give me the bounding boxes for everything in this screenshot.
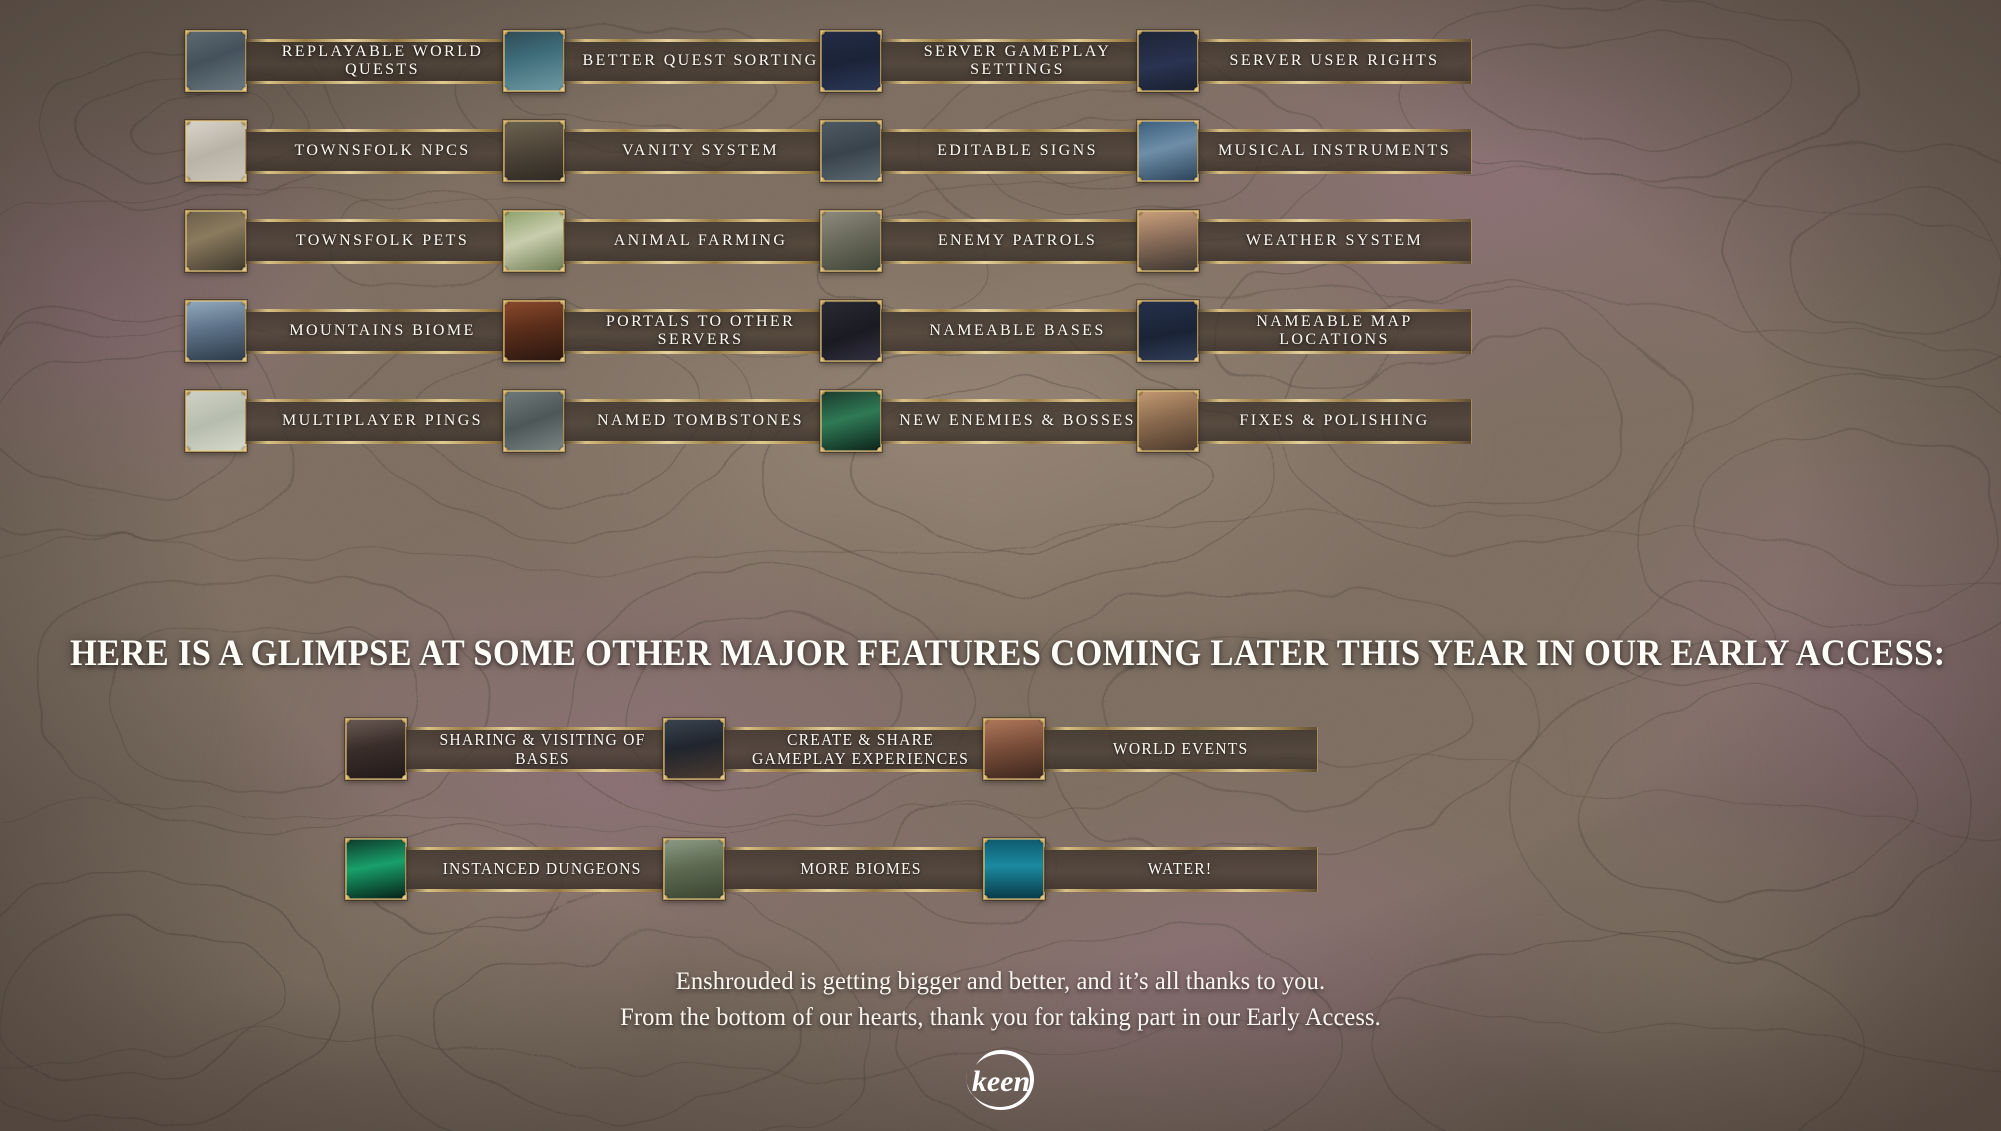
banner-bottom-edge <box>881 81 1154 84</box>
feature-card[interactable]: ANIMAL FARMING <box>503 210 838 272</box>
banner-bottom-edge <box>246 261 519 264</box>
feature-label: ANIMAL FARMING <box>614 232 788 250</box>
feature-label: NAMEABLE MAP LOCATIONS <box>1212 313 1457 349</box>
feature-thumbnail[interactable] <box>503 390 565 452</box>
frame-stud-tr-icon <box>1194 300 1199 305</box>
feature-label: SHARING & VISITING OF BASES <box>430 730 655 768</box>
frame-stud-bl-icon <box>185 447 190 452</box>
forest-valley-art <box>664 839 724 899</box>
banner-top-edge <box>1198 399 1471 402</box>
frame-stud-br-icon <box>242 357 247 362</box>
feature-label: MOUNTAINS BIOME <box>289 322 475 340</box>
frame-stud-br-icon <box>560 87 565 92</box>
frame-stud-br-icon <box>560 447 565 452</box>
ping-marker-wiktor-art <box>186 391 246 451</box>
frame-stud-bl-icon <box>503 87 508 92</box>
banner-bottom-edge <box>1044 889 1317 892</box>
feature-thumbnail[interactable] <box>1137 120 1199 182</box>
feature-banner[interactable]: ENEMY PATROLS <box>880 219 1155 264</box>
feature-thumbnail[interactable] <box>820 300 882 362</box>
frame-stud-tr-icon <box>242 120 247 125</box>
forest-patrol-art <box>821 211 881 271</box>
feature-label: SERVER USER RIGHTS <box>1230 52 1440 70</box>
feature-thumbnail[interactable] <box>1137 30 1199 92</box>
npc-character-sheet-art <box>186 121 246 181</box>
frame-stud-br-icon <box>402 775 407 780</box>
banner-bottom-edge <box>564 171 837 174</box>
feature-label: NAMED TOMBSTONES <box>597 412 804 430</box>
frame-stud-tr-icon <box>1040 838 1045 843</box>
frame-stud-bl-icon <box>820 267 825 272</box>
frame-stud-br-icon <box>877 87 882 92</box>
feature-thumbnail[interactable] <box>820 120 882 182</box>
feature-label: NEW ENEMIES & BOSSES <box>899 412 1136 430</box>
frame-stud-bl-icon <box>1137 267 1142 272</box>
banner-top-edge <box>1198 129 1471 132</box>
frame-stud-tr-icon <box>560 300 565 305</box>
frame-stud-br-icon <box>1194 357 1199 362</box>
frame-stud-tr-icon <box>1194 30 1199 35</box>
feature-label: WEATHER SYSTEM <box>1246 232 1423 250</box>
banner-top-edge <box>564 219 837 222</box>
feature-thumbnail[interactable] <box>345 718 407 780</box>
feature-banner[interactable]: MULTIPLAYER PINGS <box>245 399 520 444</box>
feature-banner[interactable]: MORE BIOMES <box>723 847 998 892</box>
feature-thumbnail[interactable] <box>983 838 1045 900</box>
banner-top-edge <box>881 219 1154 222</box>
frame-stud-bl-icon <box>1137 357 1142 362</box>
feature-label: EDITABLE SIGNS <box>937 142 1098 160</box>
closing-line-1: Enshrouded is getting bigger and better,… <box>40 963 1961 999</box>
logo-text: keen <box>971 1065 1029 1098</box>
later-feature-card[interactable]: INSTANCED DUNGEONS <box>345 838 680 900</box>
feature-label: BETTER QUEST SORTING <box>582 52 818 70</box>
frame-stud-tr-icon <box>242 300 247 305</box>
feature-banner[interactable]: ANIMAL FARMING <box>563 219 838 264</box>
banner-bottom-edge <box>406 889 679 892</box>
frame-stud-br-icon <box>1194 447 1199 452</box>
frame-stud-bl-icon <box>185 357 190 362</box>
frame-stud-bl-icon <box>663 895 668 900</box>
feature-banner[interactable]: NAMED TOMBSTONES <box>563 399 838 444</box>
feature-label: ENEMY PATROLS <box>938 232 1097 250</box>
feature-thumbnail[interactable] <box>1137 210 1199 272</box>
ocean-water-art <box>984 839 1044 899</box>
banner-top-edge <box>564 39 837 42</box>
feature-thumbnail[interactable] <box>185 30 247 92</box>
feature-card[interactable]: MUSICAL INSTRUMENTS <box>1137 120 1472 182</box>
banner-bottom-edge <box>246 171 519 174</box>
banner-bottom-edge <box>564 261 837 264</box>
frame-stud-bl-icon <box>820 357 825 362</box>
banner-bottom-edge <box>1198 351 1471 354</box>
feature-card[interactable]: FIXES & POLISHING <box>1137 390 1472 452</box>
banner-top-edge <box>1198 219 1471 222</box>
feature-banner[interactable]: NAMEABLE MAP LOCATIONS <box>1197 309 1472 354</box>
features-grid: REPLAYABLE WORLD QUESTSBETTER QUEST SORT… <box>0 0 2001 570</box>
snowy-mountain-art <box>186 301 246 361</box>
feature-label: TOWNSFOLK NPCS <box>295 142 471 160</box>
frame-stud-br-icon <box>877 267 882 272</box>
canyon-ruins-art <box>984 719 1044 779</box>
frame-stud-bl-icon <box>1137 447 1142 452</box>
map-marker-ui-art <box>1138 301 1198 361</box>
banner-top-edge <box>881 399 1154 402</box>
feature-banner[interactable]: MOUNTAINS BIOME <box>245 309 520 354</box>
feature-label: NAMEABLE BASES <box>929 322 1105 340</box>
frame-stud-bl-icon <box>345 775 350 780</box>
feature-thumbnail[interactable] <box>185 210 247 272</box>
banner-top-edge <box>246 399 519 402</box>
base-level-hud-art <box>821 301 881 361</box>
feature-banner[interactable]: WATER! <box>1043 847 1318 892</box>
page-headline: HERE IS A GLIMPSE AT SOME OTHER MAJOR FE… <box>70 632 1931 675</box>
feature-banner[interactable]: BETTER QUEST SORTING <box>563 39 838 84</box>
feature-banner[interactable]: NEW ENEMIES & BOSSES <box>880 399 1155 444</box>
frame-stud-tr-icon <box>242 210 247 215</box>
feature-card[interactable]: MULTIPLAYER PINGS <box>185 390 520 452</box>
feature-thumbnail[interactable] <box>820 390 882 452</box>
feature-thumbnail[interactable] <box>185 390 247 452</box>
feature-card[interactable]: BETTER QUEST SORTING <box>503 30 838 92</box>
sunset-sky-art <box>1138 211 1198 271</box>
frame-stud-br-icon <box>242 87 247 92</box>
feature-banner[interactable]: EDITABLE SIGNS <box>880 129 1155 174</box>
frame-stud-bl-icon <box>663 775 668 780</box>
feature-banner[interactable]: CREATE & SHARE GAMEPLAY EXPERIENCES <box>723 727 998 772</box>
feature-banner[interactable]: NAMEABLE BASES <box>880 309 1155 354</box>
banner-bottom-edge <box>564 441 837 444</box>
later-feature-card[interactable]: MORE BIOMES <box>663 838 998 900</box>
frame-stud-tr-icon <box>720 838 725 843</box>
feature-label: WORLD EVENTS <box>1113 739 1249 758</box>
feature-card[interactable]: TOWNSFOLK NPCS <box>185 120 520 182</box>
feature-banner[interactable]: VANITY SYSTEM <box>563 129 838 174</box>
banner-bottom-edge <box>1198 261 1471 264</box>
frame-stud-tr-icon <box>560 120 565 125</box>
banner-top-edge <box>1044 847 1317 850</box>
banner-bottom-edge <box>724 889 997 892</box>
feature-card[interactable]: NAMEABLE BASES <box>820 300 1155 362</box>
banner-top-edge <box>1044 727 1317 730</box>
feature-banner[interactable]: SERVER USER RIGHTS <box>1197 39 1472 84</box>
frame-stud-br-icon <box>560 177 565 182</box>
feature-thumbnail[interactable] <box>1137 390 1199 452</box>
frame-stud-bl-icon <box>185 177 190 182</box>
feature-thumbnail[interactable] <box>663 718 725 780</box>
frame-stud-tr-icon <box>877 300 882 305</box>
feature-label: INSTANCED DUNGEONS <box>443 859 642 878</box>
frame-stud-bl-icon <box>820 87 825 92</box>
pet-animal-art <box>186 211 246 271</box>
frame-stud-br-icon <box>877 447 882 452</box>
banner-bottom-edge <box>406 769 679 772</box>
keen-logo: keen <box>962 1046 1040 1121</box>
banner-bottom-edge <box>881 261 1154 264</box>
frame-stud-br-icon <box>720 895 725 900</box>
closing-line-2: From the bottom of our hearts, thank you… <box>40 999 1961 1035</box>
frame-stud-tr-icon <box>1194 120 1199 125</box>
quest-sorting-ui-art <box>504 31 564 91</box>
frame-stud-tr-icon <box>1194 210 1199 215</box>
later-feature-card[interactable]: WATER! <box>983 838 1318 900</box>
feature-banner[interactable]: PORTALS TO OTHER SERVERS <box>563 309 838 354</box>
cave-explorer-art <box>664 719 724 779</box>
frame-stud-tr-icon <box>877 390 882 395</box>
frame-stud-bl-icon <box>820 177 825 182</box>
banner-bottom-edge <box>564 351 837 354</box>
banner-top-edge <box>881 39 1154 42</box>
frame-stud-bl-icon <box>503 267 508 272</box>
wooden-sign-art <box>821 121 881 181</box>
feature-thumbnail[interactable] <box>1137 300 1199 362</box>
later-feature-card[interactable]: WORLD EVENTS <box>983 718 1318 780</box>
feature-thumbnail[interactable] <box>663 838 725 900</box>
frame-stud-br-icon <box>402 895 407 900</box>
frame-stud-br-icon <box>1194 87 1199 92</box>
feature-banner[interactable]: FIXES & POLISHING <box>1197 399 1472 444</box>
feature-card[interactable]: VANITY SYSTEM <box>503 120 838 182</box>
banner-bottom-edge <box>246 81 519 84</box>
banner-bottom-edge <box>246 441 519 444</box>
frame-stud-br-icon <box>1040 775 1045 780</box>
frame-stud-bl-icon <box>345 895 350 900</box>
banner-bottom-edge <box>1198 171 1471 174</box>
frame-stud-tr-icon <box>560 390 565 395</box>
glowing-portal-art <box>504 301 564 361</box>
frame-stud-bl-icon <box>503 177 508 182</box>
character-outfit-art <box>504 121 564 181</box>
banner-top-edge <box>881 129 1154 132</box>
feature-label: MUSICAL INSTRUMENTS <box>1218 142 1451 160</box>
frame-stud-bl-icon <box>983 895 988 900</box>
frame-stud-bl-icon <box>1137 177 1142 182</box>
frame-stud-bl-icon <box>503 447 508 452</box>
banner-top-edge <box>246 39 519 42</box>
feature-thumbnail[interactable] <box>503 120 565 182</box>
frame-stud-tr-icon <box>402 838 407 843</box>
banner-bottom-edge <box>881 441 1154 444</box>
feature-thumbnail[interactable] <box>345 838 407 900</box>
feature-card[interactable]: REPLAYABLE WORLD QUESTS <box>185 30 520 92</box>
closing-message: Enshrouded is getting bigger and better,… <box>0 963 2001 1035</box>
feature-label: FIXES & POLISHING <box>1239 412 1429 430</box>
quest-log-ui-art <box>186 31 246 91</box>
banner-top-edge <box>564 309 837 312</box>
frame-stud-br-icon <box>560 357 565 362</box>
farm-pen-art <box>504 211 564 271</box>
frame-stud-tr-icon <box>1040 718 1045 723</box>
green-dungeon-glyph-art <box>346 839 406 899</box>
feature-card[interactable]: TOWNSFOLK PETS <box>185 210 520 272</box>
feature-banner[interactable]: TOWNSFOLK PETS <box>245 219 520 264</box>
frame-stud-br-icon <box>242 447 247 452</box>
desert-characters-art <box>1138 391 1198 451</box>
frame-stud-tr-icon <box>877 30 882 35</box>
feature-banner[interactable]: SERVER GAMEPLAY SETTINGS <box>880 39 1155 84</box>
frame-stud-br-icon <box>877 177 882 182</box>
feature-thumbnail[interactable] <box>503 300 565 362</box>
feature-card[interactable]: MOUNTAINS BIOME <box>185 300 520 362</box>
feature-banner[interactable]: INSTANCED DUNGEONS <box>405 847 680 892</box>
frame-stud-bl-icon <box>983 775 988 780</box>
feature-banner[interactable]: TOWNSFOLK NPCS <box>245 129 520 174</box>
feature-banner[interactable]: WEATHER SYSTEM <box>1197 219 1472 264</box>
later-features-grid: SHARING & VISITING OF BASESCREATE & SHAR… <box>0 718 2001 958</box>
banner-bottom-edge <box>881 351 1154 354</box>
banner-top-edge <box>246 219 519 222</box>
banner-bottom-edge <box>564 81 837 84</box>
feature-card[interactable]: SERVER GAMEPLAY SETTINGS <box>820 30 1155 92</box>
feature-card[interactable]: WEATHER SYSTEM <box>1137 210 1472 272</box>
banner-bottom-edge <box>246 351 519 354</box>
frame-stud-tr-icon <box>560 30 565 35</box>
feature-banner[interactable]: WORLD EVENTS <box>1043 727 1318 772</box>
later-feature-card[interactable]: SHARING & VISITING OF BASES <box>345 718 680 780</box>
banner-top-edge <box>1198 39 1471 42</box>
frame-stud-tr-icon <box>720 718 725 723</box>
feature-thumbnail[interactable] <box>503 210 565 272</box>
frame-stud-tr-icon <box>877 210 882 215</box>
frame-stud-br-icon <box>720 775 725 780</box>
feature-label: MULTIPLAYER PINGS <box>282 412 483 430</box>
banner-top-edge <box>564 399 837 402</box>
banner-top-edge <box>1198 309 1471 312</box>
frame-stud-bl-icon <box>820 447 825 452</box>
feature-thumbnail[interactable] <box>820 210 882 272</box>
frame-stud-br-icon <box>242 267 247 272</box>
banner-top-edge <box>724 847 997 850</box>
banner-bottom-edge <box>1198 441 1471 444</box>
banner-bottom-edge <box>1044 769 1317 772</box>
later-feature-card[interactable]: CREATE & SHARE GAMEPLAY EXPERIENCES <box>663 718 998 780</box>
frame-stud-tr-icon <box>877 120 882 125</box>
frame-stud-br-icon <box>1194 267 1199 272</box>
green-boss-creature-art <box>821 391 881 451</box>
feature-thumbnail[interactable] <box>185 120 247 182</box>
feature-thumbnail[interactable] <box>820 30 882 92</box>
frame-stud-bl-icon <box>1137 87 1142 92</box>
base-altar-flame-art <box>346 719 406 779</box>
feature-thumbnail[interactable] <box>983 718 1045 780</box>
banner-bottom-edge <box>1198 81 1471 84</box>
banner-top-edge <box>881 309 1154 312</box>
feature-banner[interactable]: REPLAYABLE WORLD QUESTS <box>245 39 520 84</box>
feature-thumbnail[interactable] <box>503 30 565 92</box>
frame-stud-tr-icon <box>560 210 565 215</box>
banner-bottom-edge <box>881 171 1154 174</box>
frame-stud-bl-icon <box>503 357 508 362</box>
frame-stud-tr-icon <box>242 390 247 395</box>
feature-card[interactable]: NEW ENEMIES & BOSSES <box>820 390 1155 452</box>
feature-card[interactable]: NAMED TOMBSTONES <box>503 390 838 452</box>
feature-label: MORE BIOMES <box>800 859 921 878</box>
feature-banner[interactable]: MUSICAL INSTRUMENTS <box>1197 129 1472 174</box>
feature-label: CREATE & SHARE GAMEPLAY EXPERIENCES <box>748 730 973 768</box>
frame-stud-bl-icon <box>185 267 190 272</box>
frame-stud-br-icon <box>877 357 882 362</box>
server-settings-ui-art <box>821 31 881 91</box>
frame-stud-tr-icon <box>1194 390 1199 395</box>
user-rights-ui-art <box>1138 31 1198 91</box>
banner-bottom-edge <box>724 769 997 772</box>
lute-player-art <box>1138 121 1198 181</box>
frame-stud-tr-icon <box>242 30 247 35</box>
tombstone-marker-art <box>504 391 564 451</box>
feature-card[interactable]: SERVER USER RIGHTS <box>1137 30 1472 92</box>
banner-top-edge <box>246 129 519 132</box>
frame-stud-br-icon <box>560 267 565 272</box>
feature-card[interactable]: EDITABLE SIGNS <box>820 120 1155 182</box>
feature-card[interactable]: PORTALS TO OTHER SERVERS <box>503 300 838 362</box>
banner-top-edge <box>246 309 519 312</box>
feature-label: PORTALS TO OTHER SERVERS <box>578 313 823 349</box>
feature-card[interactable]: NAMEABLE MAP LOCATIONS <box>1137 300 1472 362</box>
banner-top-edge <box>406 847 679 850</box>
frame-stud-br-icon <box>242 177 247 182</box>
feature-label: WATER! <box>1148 859 1213 878</box>
frame-stud-br-icon <box>1194 177 1199 182</box>
feature-label: SERVER GAMEPLAY SETTINGS <box>895 43 1140 79</box>
feature-label: VANITY SYSTEM <box>622 142 779 160</box>
frame-stud-br-icon <box>1040 895 1045 900</box>
feature-banner[interactable]: SHARING & VISITING OF BASES <box>405 727 680 772</box>
feature-card[interactable]: ENEMY PATROLS <box>820 210 1155 272</box>
frame-stud-tr-icon <box>402 718 407 723</box>
feature-label: REPLAYABLE WORLD QUESTS <box>260 43 505 79</box>
frame-stud-bl-icon <box>185 87 190 92</box>
feature-thumbnail[interactable] <box>185 300 247 362</box>
feature-label: TOWNSFOLK PETS <box>296 232 469 250</box>
banner-top-edge <box>564 129 837 132</box>
